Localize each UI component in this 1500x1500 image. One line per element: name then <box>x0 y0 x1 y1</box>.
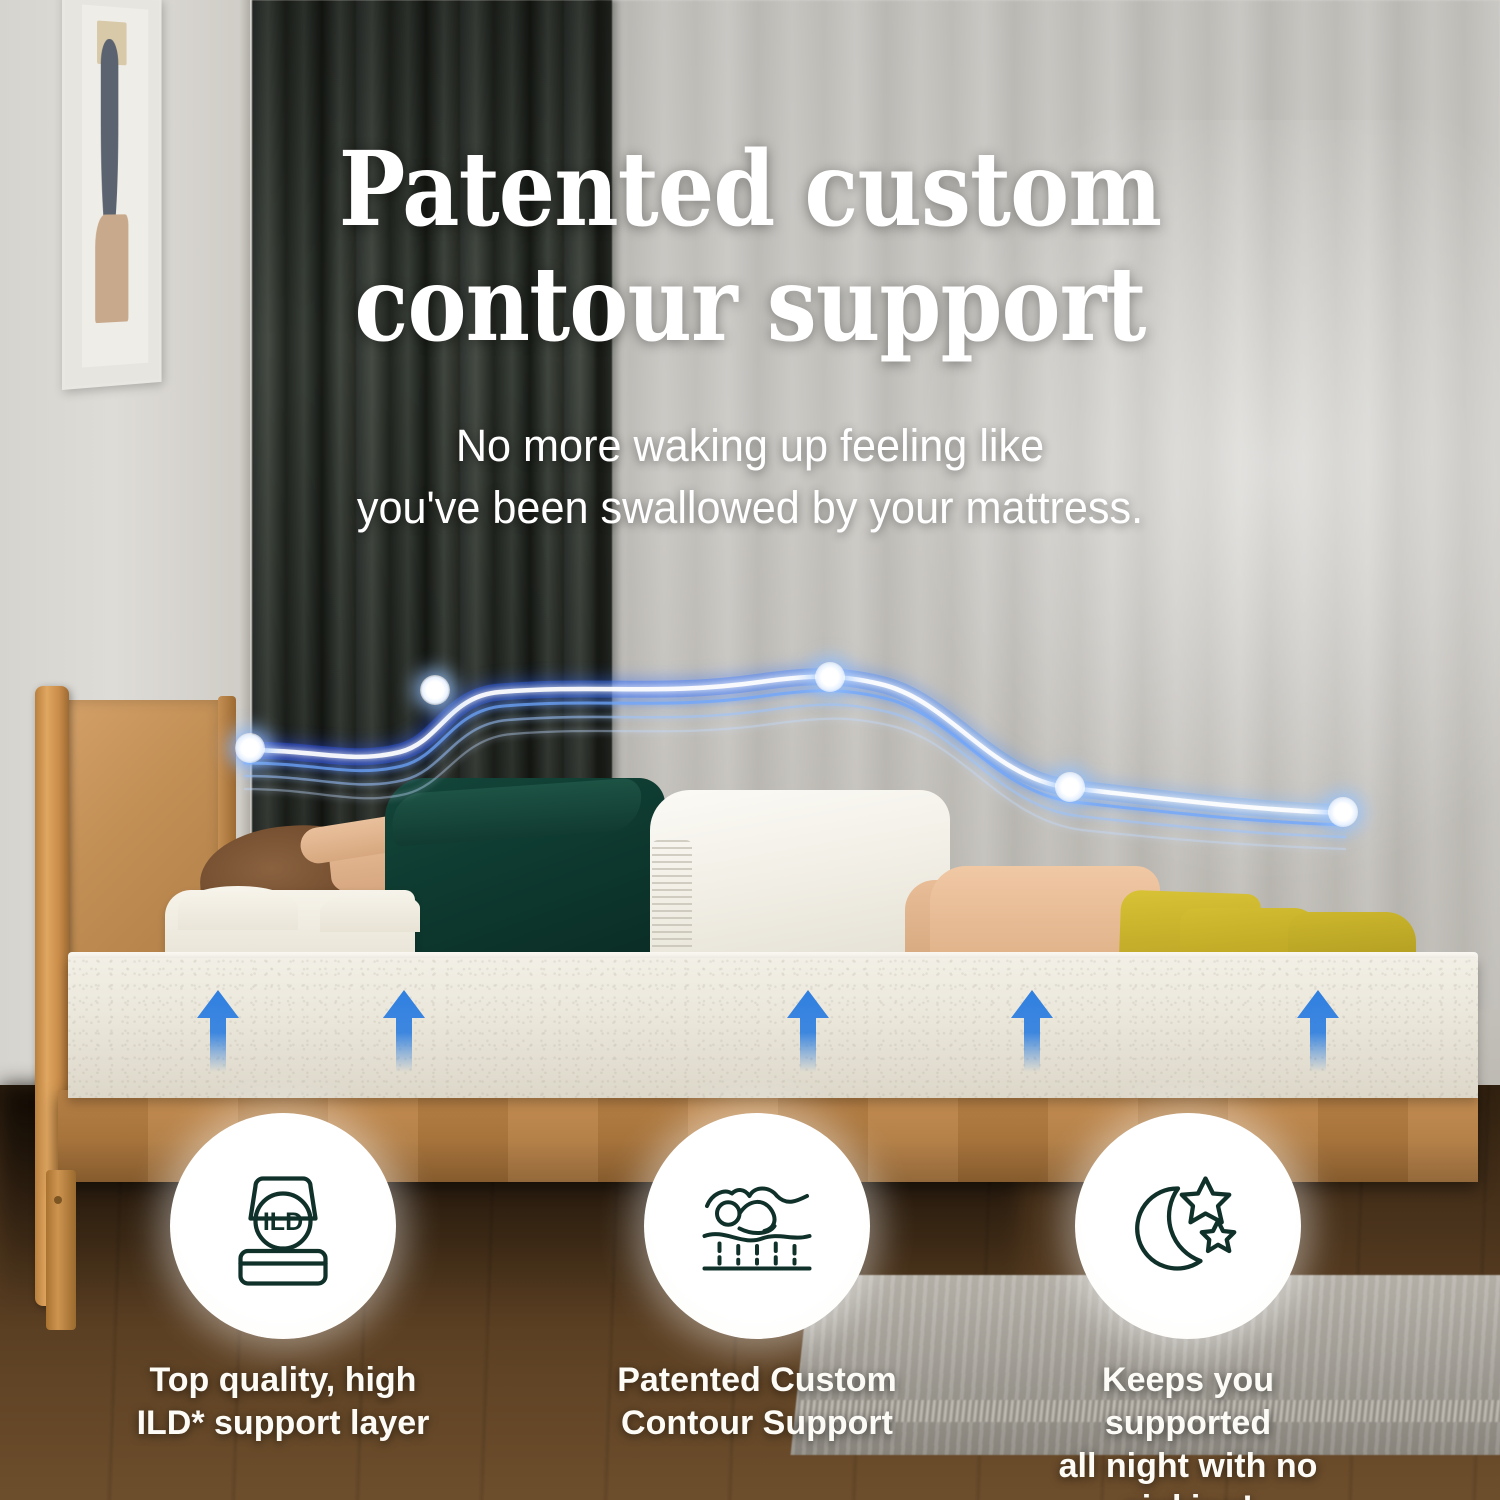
person-sleeping-on-contour-mattress-icon <box>682 1151 832 1301</box>
feature-badge-circle <box>1075 1113 1301 1339</box>
contour-wave-node <box>235 733 265 763</box>
support-arrow <box>1009 988 1055 1074</box>
support-arrow <box>1295 988 1341 1074</box>
contour-wave-node <box>815 662 845 692</box>
feature-label: Patented Custom Contour Support <box>592 1359 922 1445</box>
feature-badge-circle: ILD <box>170 1113 396 1339</box>
feature-badge-circle <box>644 1113 870 1339</box>
product-marketing-image: Patented custom contour support No more … <box>0 0 1500 1500</box>
contour-wave-node <box>1328 797 1358 827</box>
crescent-moon-stars-icon <box>1113 1151 1263 1301</box>
contour-wave-node <box>1055 772 1085 802</box>
feature-no-sinking[interactable]: Keeps you supported all night with no si… <box>1023 1113 1353 1500</box>
ild-weight-on-mattress-icon: ILD <box>208 1151 358 1301</box>
page-title: Patented custom contour support <box>105 132 1395 363</box>
support-arrow <box>381 988 427 1074</box>
feature-label: Top quality, high ILD* support layer <box>118 1359 448 1445</box>
support-arrow <box>195 988 241 1074</box>
feature-contour-support[interactable]: Patented Custom Contour Support <box>592 1113 922 1445</box>
feature-ild-support[interactable]: ILD Top quality, high ILD* support layer <box>118 1113 448 1445</box>
contour-wave-lines <box>0 600 1500 920</box>
contour-wave-node <box>420 675 450 705</box>
feature-badge-row: ILD Top quality, high ILD* support layer <box>0 1113 1500 1463</box>
feature-label: Keeps you supported all night with no si… <box>1023 1359 1353 1500</box>
page-subtitle: No more waking up feeling like you've be… <box>30 415 1470 539</box>
ild-icon-text: ILD <box>263 1208 303 1236</box>
support-arrow <box>785 988 831 1074</box>
mattress-front-face <box>68 958 1478 1098</box>
